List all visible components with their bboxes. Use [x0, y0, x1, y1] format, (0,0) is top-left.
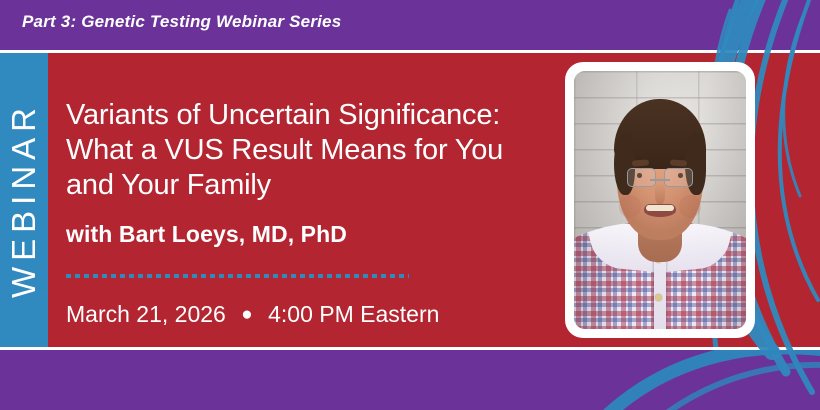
event-date: March 21, 2026: [66, 301, 226, 327]
cheek-left: [619, 195, 641, 218]
event-time: 4:00 PM Eastern: [268, 301, 439, 327]
lens-left: [627, 168, 656, 187]
speaker-photo: [574, 71, 746, 329]
title-line-1: Variants of Uncertain Significance:: [66, 98, 546, 133]
bottom-purple-band: [0, 350, 820, 410]
glasses-bridge: [650, 179, 671, 181]
bullet-separator-icon: ●: [241, 304, 252, 326]
speaker-photo-frame: [565, 62, 755, 338]
webinar-rail-label: WEBINAR: [0, 53, 48, 347]
dotted-divider: [66, 274, 409, 278]
title-line-3: and Your Family: [66, 168, 546, 203]
series-eyebrow-text: Part 3: Genetic Testing Webinar Series: [22, 12, 341, 32]
date-time-line: March 21, 2026 ● 4:00 PM Eastern: [66, 301, 439, 328]
shirt-button-mid: [655, 294, 662, 301]
teeth: [646, 205, 675, 212]
eyebrow-right: [670, 159, 688, 166]
title-line-2: What a VUS Result Means for You: [66, 133, 546, 168]
speaker-name: with Bart Loeys, MD, PhD: [66, 221, 347, 248]
lens-right: [664, 168, 693, 187]
webinar-promo-banner: WEBINAR Pa: [0, 0, 820, 410]
webinar-title: Variants of Uncertain Significance: What…: [66, 98, 546, 203]
nose: [655, 183, 665, 205]
banner-content: Variants of Uncertain Significance: What…: [66, 53, 546, 347]
